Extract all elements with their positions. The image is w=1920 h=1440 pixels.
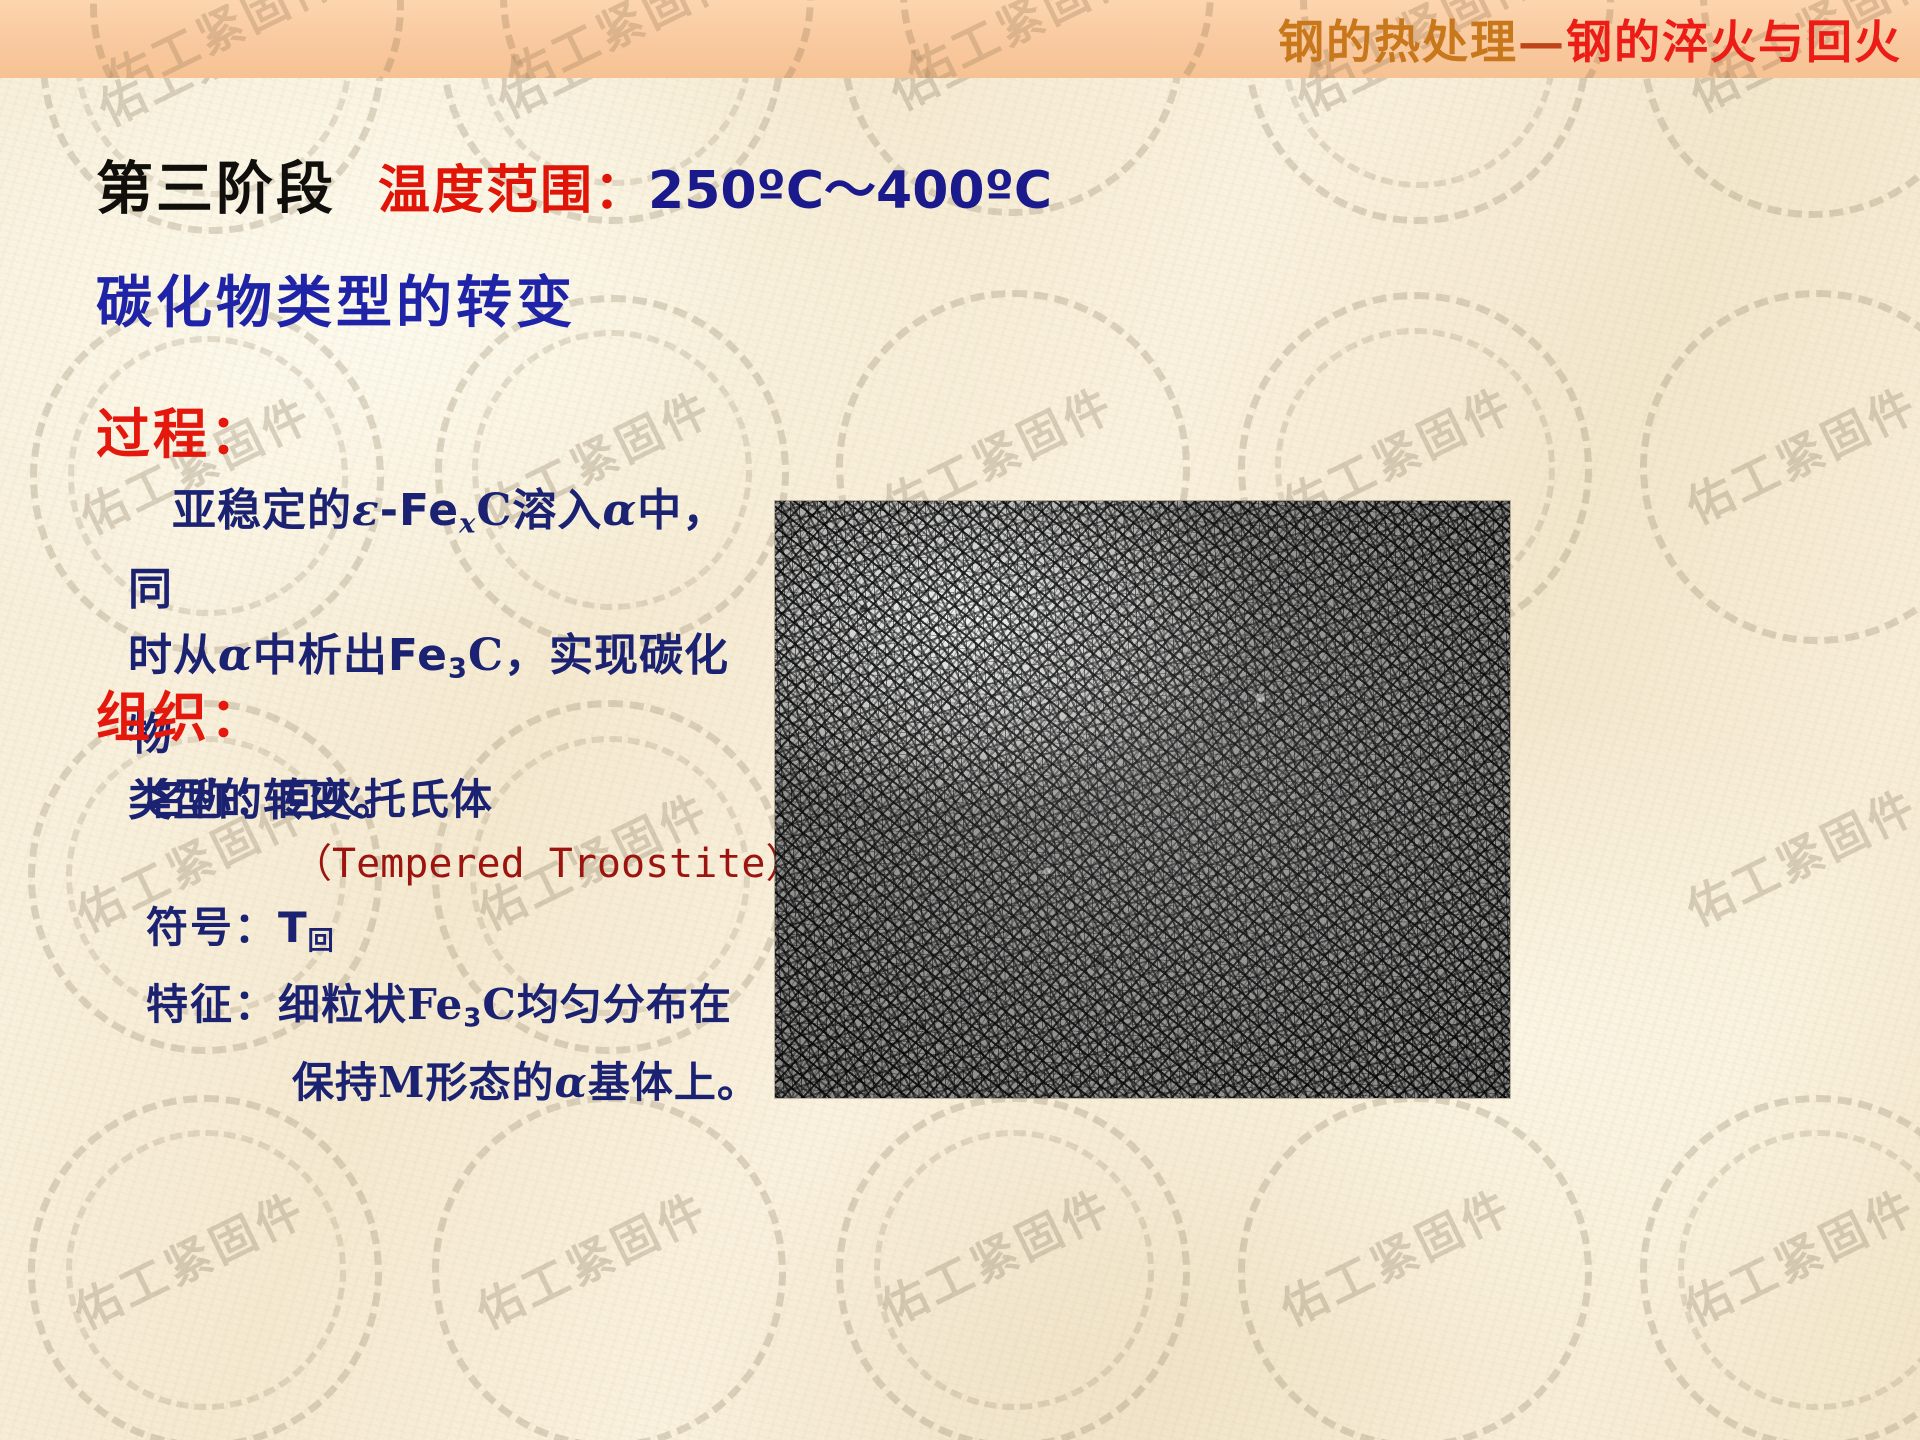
slide-header-bar: 佑工紧固件 佑工紧固件 佑工紧固件 佑工紧固件 佑工紧固件 钢的热处理—钢的淬火… bbox=[0, 0, 1920, 78]
structure-feature-seg: 细粒状Fe bbox=[278, 980, 463, 1029]
process-text-seg: 亚稳定的 bbox=[172, 485, 352, 536]
header-title-left: 钢的热处理 bbox=[1278, 15, 1518, 69]
process-heading: 过程： bbox=[96, 390, 267, 469]
structure-symbol-value: T bbox=[278, 903, 308, 952]
structure-feature-key: 特征： bbox=[146, 980, 278, 1029]
process-text-seg: C溶入 bbox=[476, 485, 602, 536]
list-item: 名称：回火托氏体 bbox=[146, 768, 826, 832]
temperature-range-value: 250ºC～400ºC bbox=[648, 161, 1052, 221]
structure-feature-seg: 保持M形态的 bbox=[292, 1058, 555, 1107]
subscript-3: 3 bbox=[463, 1004, 482, 1034]
subscript-x: x bbox=[459, 508, 476, 540]
subscript-3: 3 bbox=[448, 653, 468, 684]
temperature-range-label: 温度范围： bbox=[378, 160, 648, 221]
structure-feature-line2: 保持M形态的α基体上。 bbox=[146, 1051, 826, 1115]
list-item: 特征：细粒状Fe3C均匀分布在 bbox=[146, 973, 826, 1050]
list-item: 符号：T回 bbox=[146, 896, 826, 973]
structure-name-key: 名称： bbox=[146, 775, 278, 824]
section-subheading: 碳化物类型的转变 bbox=[96, 258, 576, 339]
structure-heading: 组织： bbox=[96, 673, 267, 752]
micrograph-vignette bbox=[775, 501, 1510, 1098]
structure-symbol-subscript: 回 bbox=[308, 926, 335, 956]
alpha-symbol: α bbox=[555, 1058, 588, 1107]
stage-line: 第三阶段温度范围：250ºC～400ºC bbox=[96, 143, 1052, 225]
process-text-seg: 中析出Fe bbox=[253, 630, 448, 681]
header-title-dash: — bbox=[1518, 15, 1566, 69]
watermark-text: 佑工紧固件 bbox=[894, 0, 1148, 78]
structure-symbol-key: 符号： bbox=[146, 903, 278, 952]
header-title-right: 钢的淬火与回火 bbox=[1566, 15, 1902, 69]
header-title: 钢的热处理—钢的淬火与回火 bbox=[1278, 6, 1902, 72]
structure-name-value: 回火托氏体 bbox=[278, 775, 493, 824]
stage-label: 第三阶段 bbox=[96, 155, 336, 222]
epsilon-symbol: ε bbox=[352, 485, 380, 536]
structure-feature-seg: 基体上。 bbox=[588, 1058, 760, 1107]
structure-feature-seg: C均匀分布在 bbox=[482, 980, 731, 1029]
micrograph-image bbox=[775, 501, 1510, 1098]
slide-body: 第三阶段温度范围：250ºC～400ºC 碳化物类型的转变 过程： 亚稳定的ε-… bbox=[0, 78, 1920, 1440]
process-text-seg: -Fe bbox=[380, 485, 459, 536]
watermark-text: 佑工紧固件 bbox=[94, 0, 348, 78]
watermark-text: 佑工紧固件 bbox=[494, 0, 748, 78]
structure-item-list: 名称：回火托氏体 （Tempered Troostite） 符号：T回 特征：细… bbox=[146, 768, 826, 1115]
slide-canvas: 佑工紧固件 佑工紧固件 佑工紧固件 佑工紧固件 佑工紧固件 佑工紧固件 佑工紧固… bbox=[0, 0, 1920, 1440]
alpha-symbol: α bbox=[602, 485, 637, 536]
structure-english-name: （Tempered Troostite） bbox=[146, 832, 826, 896]
